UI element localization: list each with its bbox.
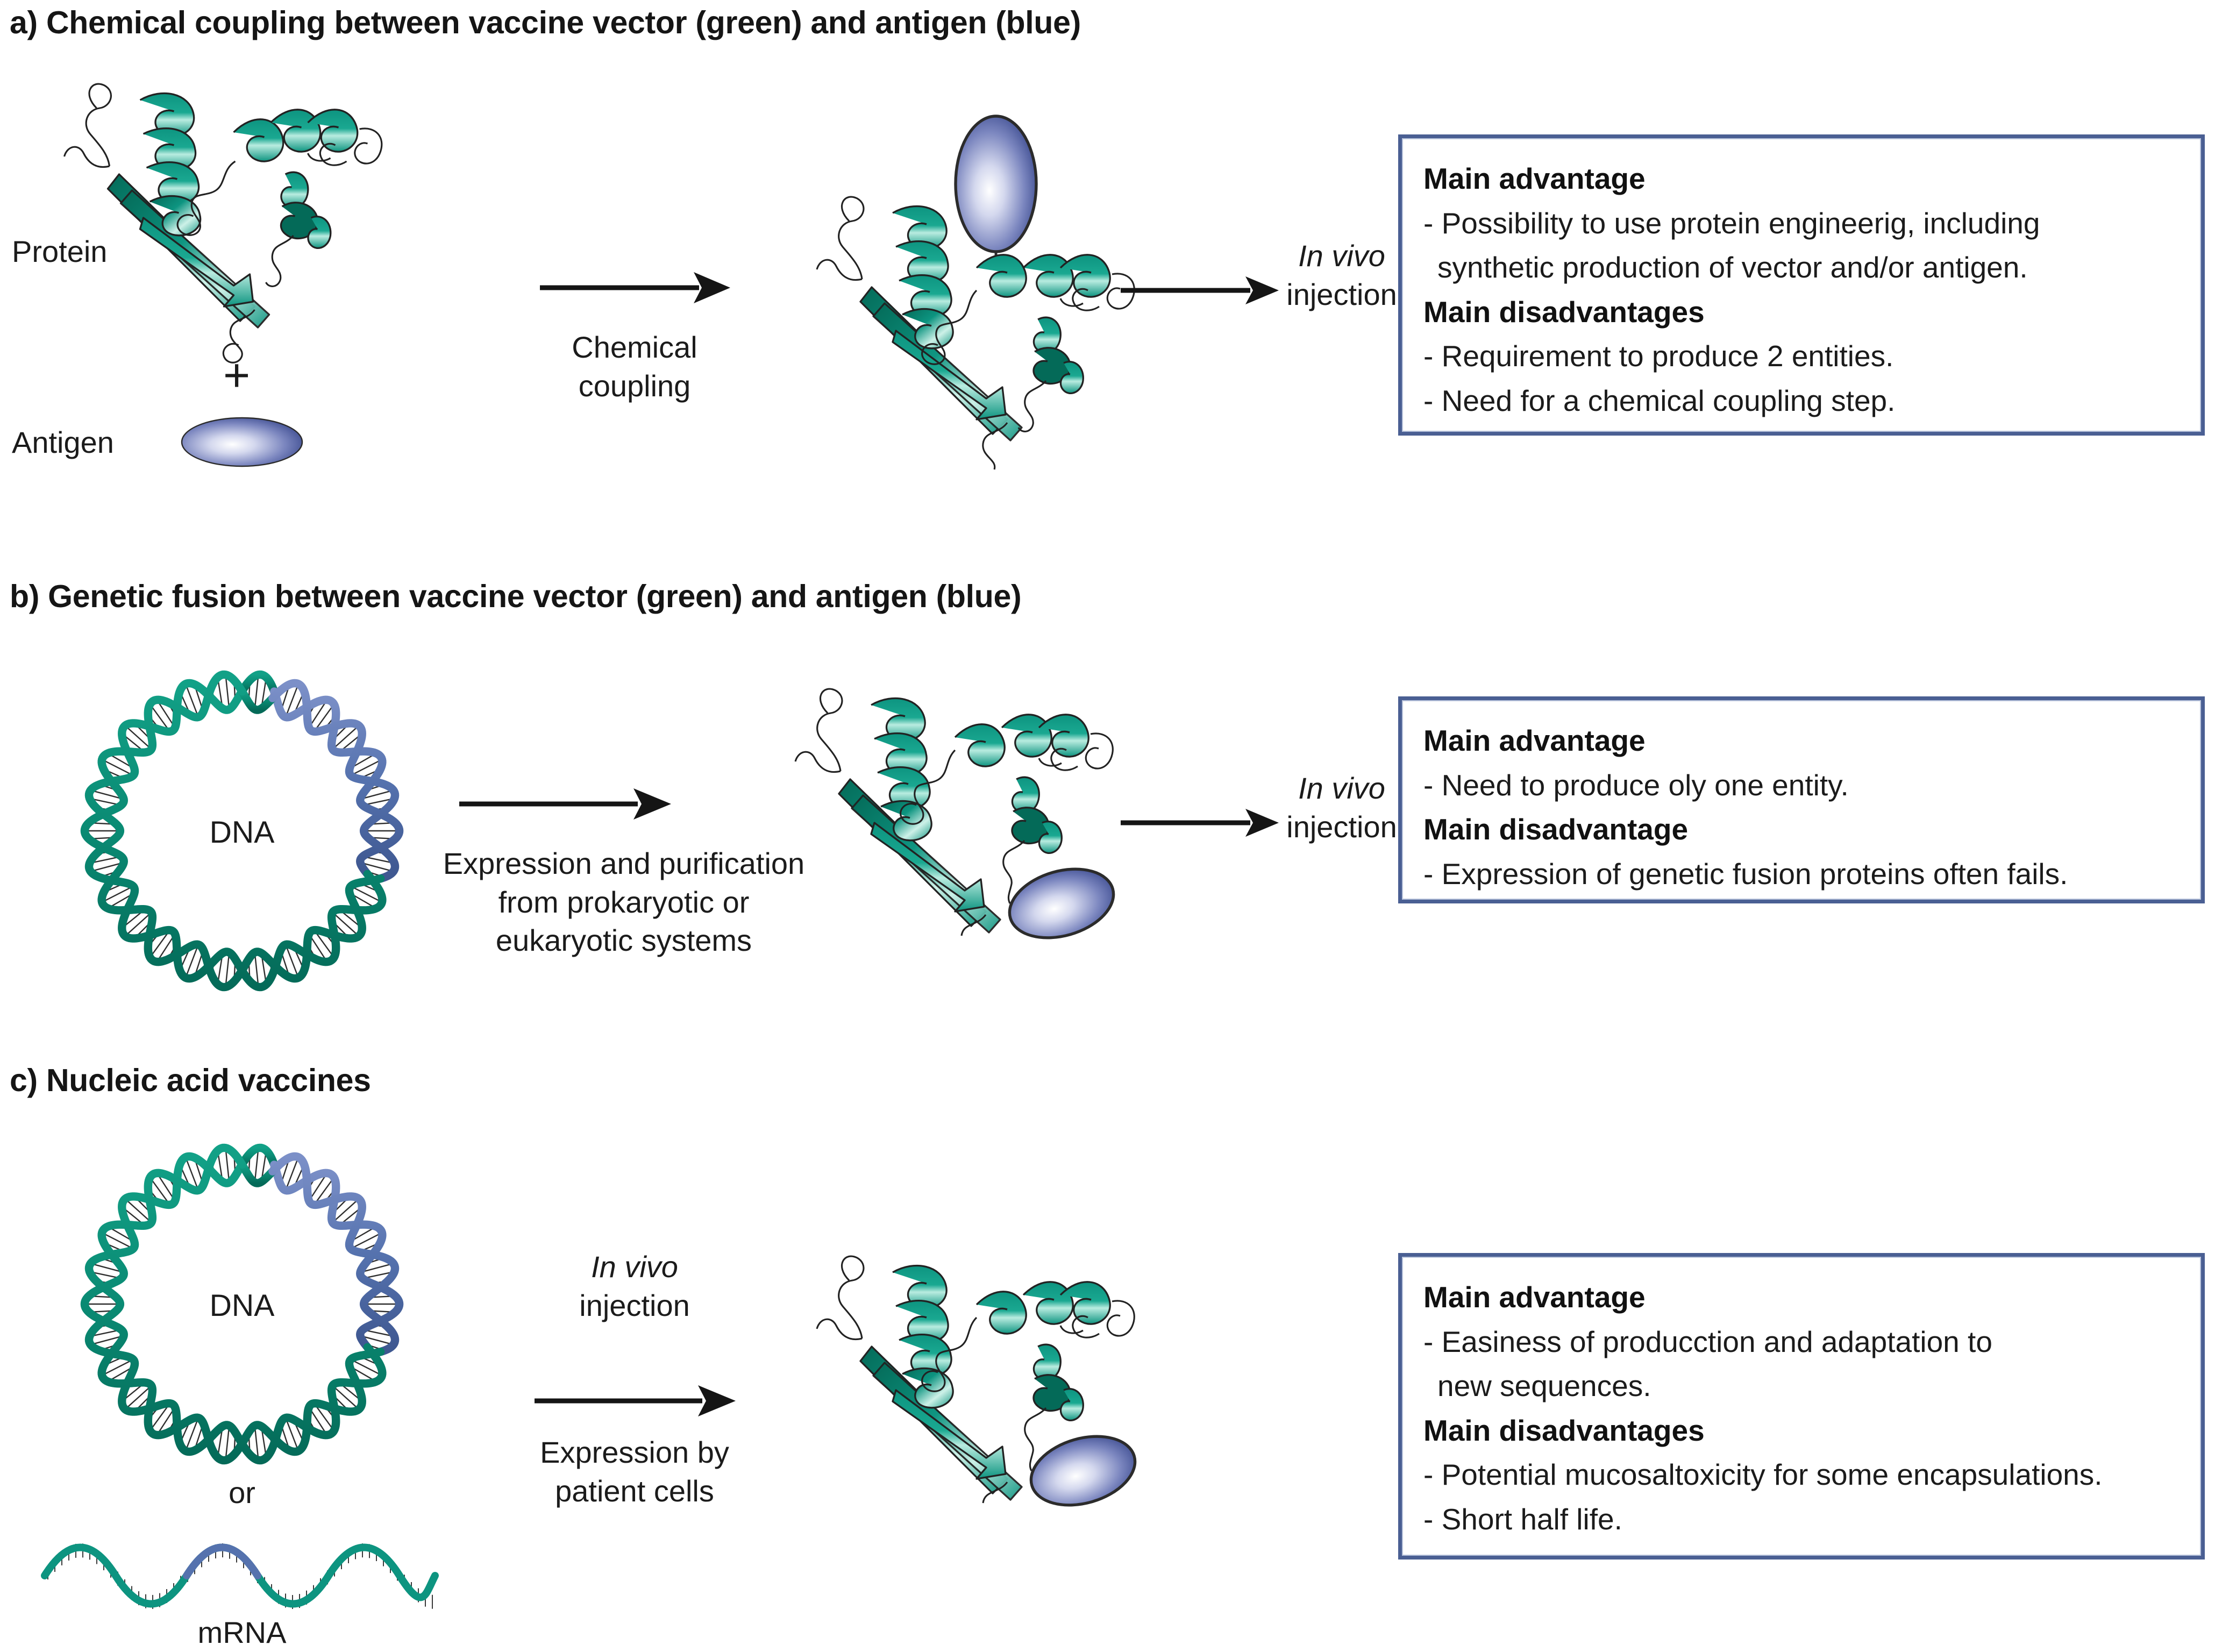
protein-label: Protein [12, 234, 107, 269]
plasmid-dna-c: DNA [65, 1127, 419, 1482]
antigen-ellipse-c [1023, 1425, 1143, 1516]
box-c-line-2: new sequences. [1423, 1364, 2180, 1408]
fusion-protein-antigen-c [796, 1237, 1183, 1495]
dna-label-c: DNA [210, 1288, 275, 1323]
mrna-strand [40, 1543, 438, 1608]
protein-ribbon-a [43, 65, 419, 323]
info-box-panel-a: Main advantage - Possibility to use prot… [1398, 134, 2205, 436]
plus-sign: + [223, 352, 250, 398]
box-c-line-0: Main advantage [1423, 1275, 2180, 1320]
box-c-line-1: - Easiness of producction and adaptation… [1423, 1320, 2180, 1364]
box-b-line-1: - Need to produce oly one entity. [1423, 763, 2180, 808]
plasmid-dna-b: DNA [65, 653, 419, 1008]
box-b-line-3: - Expression of genetic fusion proteins … [1423, 852, 2180, 896]
dna-strand-vector-segment [242, 691, 273, 710]
info-box-panel-b: Main advantage - Need to produce oly one… [1398, 696, 2205, 903]
mrna-label: mRNA [124, 1613, 360, 1652]
panel-a-title: a) Chemical coupling between vaccine vec… [10, 4, 1081, 41]
arrow-chemical-coupling [538, 264, 731, 312]
arrow-expression-patient-cells [532, 1377, 737, 1425]
chemical-coupling-line2: coupling [516, 367, 753, 405]
invivo-line-c: In vivo [516, 1248, 753, 1286]
box-c-line-3: Main disadvantages [1423, 1408, 2180, 1453]
box-b-line-0: Main advantage [1423, 718, 2180, 763]
antigen-label: Antigen [12, 425, 114, 460]
chemical-coupling-line1: Chemical [516, 328, 753, 367]
box-a-line-1: - Possibility to use protein engineerig,… [1423, 201, 2180, 246]
box-c-line-5: - Short half life. [1423, 1497, 2180, 1542]
info-box-panel-c: Main advantage - Easiness of producction… [1398, 1253, 2205, 1560]
panel-b-title: b) Genetic fusion between vaccine vector… [10, 578, 1021, 615]
box-a-line-2: synthetic production of vector and/or an… [1423, 245, 2180, 290]
dna-strand-vector-segment [242, 1164, 273, 1183]
antigen-ellipse-a [180, 414, 304, 471]
panel-c-title: c) Nucleic acid vaccines [10, 1062, 371, 1099]
injection-line-c: injection [516, 1286, 753, 1325]
box-c-line-4: - Potential mucosaltoxicity for some enc… [1423, 1452, 2180, 1497]
exp-patient-line2: patient cells [516, 1472, 753, 1511]
or-label: or [124, 1473, 360, 1512]
box-a-line-4: - Requirement to produce 2 entities. [1423, 334, 2180, 379]
box-a-line-3: Main disadvantages [1423, 290, 2180, 334]
antigen-ellipse-b [1001, 858, 1121, 949]
box-b-line-2: Main disadvantage [1423, 807, 2180, 852]
arrow-expression-purification [457, 780, 672, 828]
fusion-protein-antigen-b [774, 670, 1162, 928]
box-a-line-0: Main advantage [1423, 156, 2180, 201]
box-a-line-5: - Need for a chemical coupling step. [1423, 379, 2180, 423]
invivo-injection-label-c: In vivo injection [516, 1248, 753, 1325]
chemical-coupling-label: Chemical coupling [516, 328, 753, 405]
exp-patient-line1: Expression by [516, 1433, 753, 1472]
expression-patient-cells-label: Expression by patient cells [516, 1433, 753, 1510]
dna-label-b: DNA [210, 815, 275, 850]
